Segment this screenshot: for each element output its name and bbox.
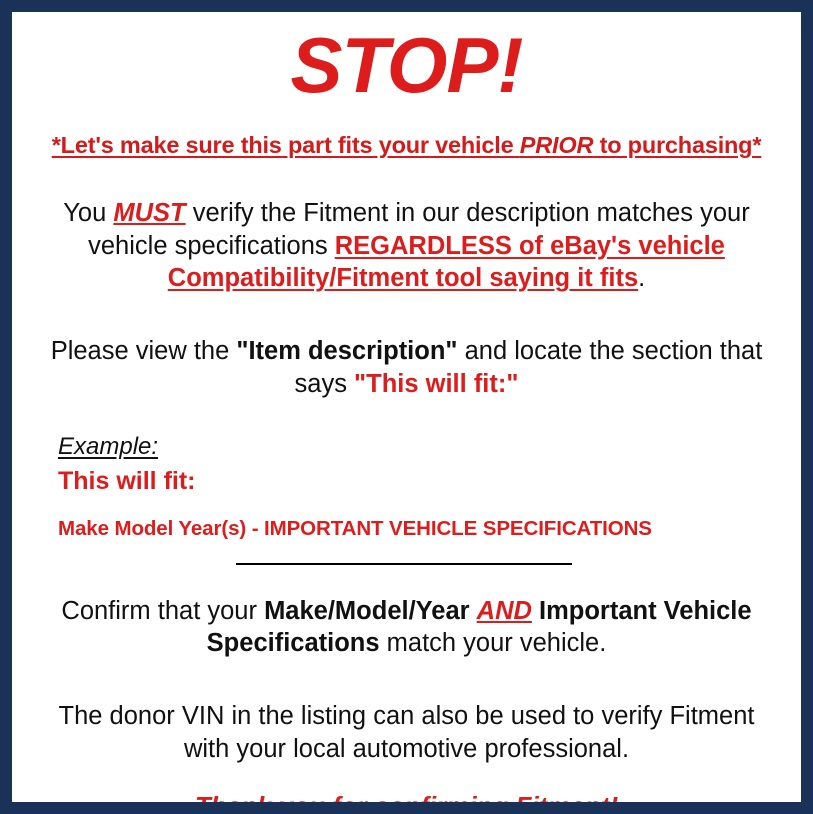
must-verify-paragraph: You MUST verify the Fitment in our descr… xyxy=(26,197,787,295)
confirm-text-part2: match your vehicle. xyxy=(380,629,607,657)
donor-vin-paragraph: The donor VIN in the listing can also be… xyxy=(26,700,787,765)
thank-you-message: Thank you for confirming Fitment! xyxy=(26,791,787,814)
please-view-paragraph: Please view the "Item description" and l… xyxy=(26,335,787,400)
page-title: STOP! xyxy=(26,26,787,104)
please-text-part1: Please view the xyxy=(51,337,237,365)
section-divider xyxy=(236,563,572,565)
must-emphasis: MUST xyxy=(113,199,185,227)
confirm-text-part1: Confirm that your xyxy=(61,597,264,625)
item-description-label: "Item description" xyxy=(236,337,457,365)
subtitle-text-before: *Let's make sure this part fits your veh… xyxy=(52,132,520,158)
and-emphasis: AND xyxy=(477,597,532,625)
confirm-paragraph: Confirm that your Make/Model/Year AND Im… xyxy=(26,595,787,660)
example-label: Example: xyxy=(58,434,158,460)
example-fit-heading: This will fit: xyxy=(58,467,787,496)
must-text-part1: You xyxy=(63,199,113,227)
example-block: Example: This will fit: Make Model Year(… xyxy=(26,434,787,541)
fitment-notice-card: STOP! *Let's make sure this part fits yo… xyxy=(0,0,813,814)
must-text-part3: . xyxy=(638,264,645,292)
example-spec-line: Make Model Year(s) - IMPORTANT VEHICLE S… xyxy=(58,517,787,541)
make-model-year-emphasis: Make/Model/Year xyxy=(264,597,470,625)
subtitle-emphasis-prior: PRIOR xyxy=(520,132,593,158)
subtitle-text-after: to purchasing* xyxy=(593,132,761,158)
divider-row xyxy=(26,563,787,565)
example-label-row: Example: xyxy=(58,434,787,460)
this-will-fit-quote: "This will fit:" xyxy=(354,370,518,398)
subtitle-banner: *Let's make sure this part fits your veh… xyxy=(26,132,787,159)
notice-content: STOP! *Let's make sure this part fits yo… xyxy=(12,26,801,814)
